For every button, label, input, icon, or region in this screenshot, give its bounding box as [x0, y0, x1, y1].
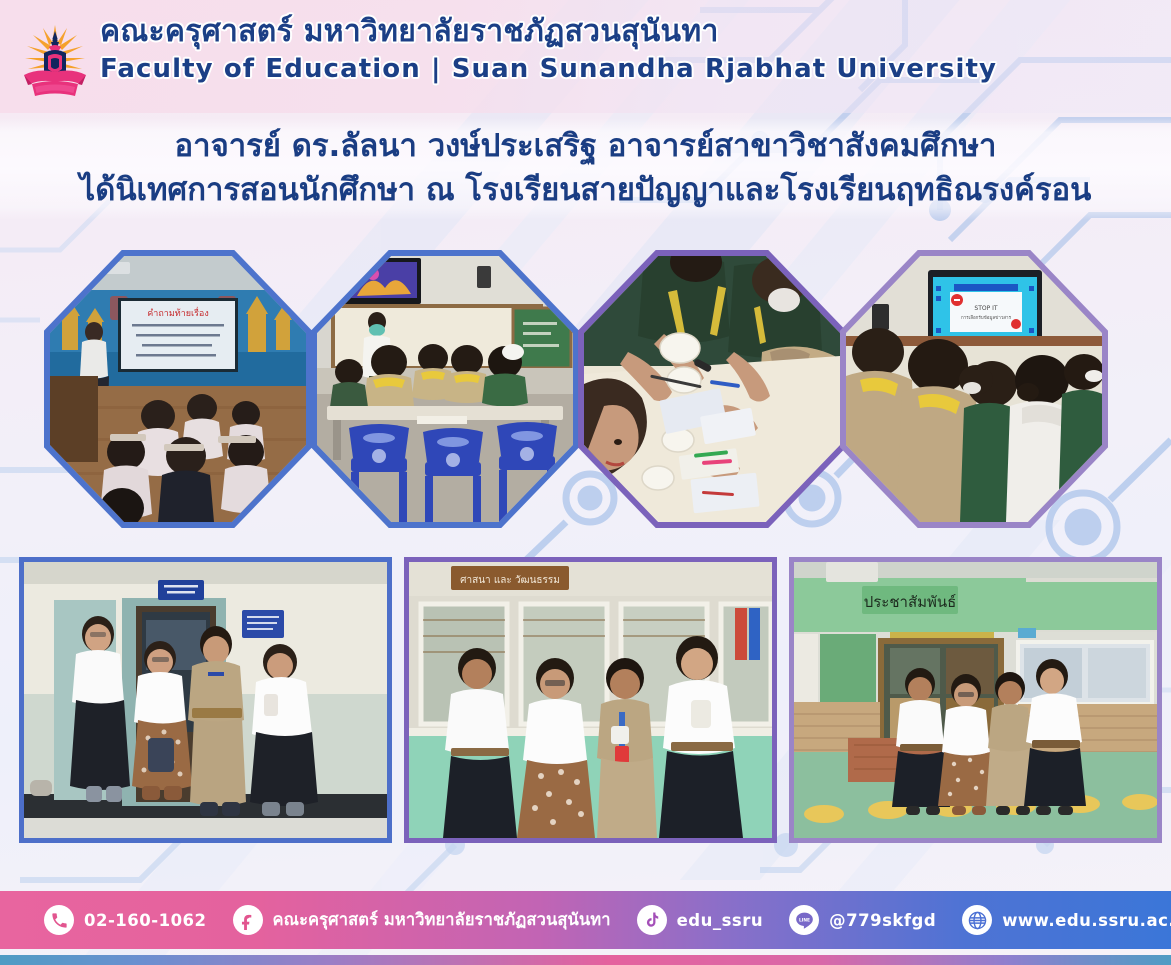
contact-website[interactable]: www.edu.ssru.ac.th [962, 905, 1171, 935]
page-title: อาจารย์ ดร.ลัลนา วงษ์ประเสริฐ อาจารย์สาข… [0, 118, 1171, 220]
svg-text:ประชาสัมพันธ์: ประชาสัมพันธ์ [864, 593, 957, 611]
photo-students-watching-screen: STOP IT การเลือกรับข้อมูลข่าวสาร [840, 250, 1108, 528]
photo-image: คำถามท้ายเรื่อง [50, 256, 306, 522]
octagon-photo-clip: คำถามท้ายเรื่อง [50, 256, 306, 522]
svg-text:STOP IT: STOP IT [974, 305, 997, 312]
octagon-photo-clip [317, 256, 573, 522]
contact-footer: 02-160-1062 คณะครุศาสตร์ มหาวิทยาลัยราชภ… [0, 891, 1171, 949]
photo-group-at-windows: ศาสนา และ วัฒนธรรม [404, 557, 777, 843]
svg-text:LINE: LINE [799, 917, 810, 923]
octagon-photo-clip [584, 256, 840, 522]
phone-number: 02-160-1062 [84, 911, 207, 930]
photo-group-at-information-office: ประชาสัมพันธ์ [789, 557, 1162, 843]
facebook-page-name: คณะครุศาสตร์ มหาวิทยาลัยราชภัฏสวนสุนันทา [273, 907, 611, 933]
footer-accent-strip [0, 955, 1171, 965]
photo-clip [24, 562, 387, 838]
website-url: www.edu.ssru.ac.th [1002, 911, 1171, 930]
photo-group-activity-desk [578, 250, 846, 528]
page-header: คณะครุศาสตร์ มหาวิทยาลัยราชภัฏสวนสุนันทา… [0, 0, 1171, 113]
photo-classroom-presentation: คำถามท้ายเรื่อง [44, 250, 312, 528]
line-id: @779skfgd [829, 911, 936, 930]
facebook-icon [233, 905, 263, 935]
header-text-block: คณะครุศาสตร์ มหาวิทยาลัยราชภัฏสวนสุนันทา… [100, 14, 997, 85]
octagon-photo-row: คำถามท้ายเรื่อง [0, 250, 1171, 535]
rectangular-photo-row: ศาสนา และ วัฒนธรรม [0, 557, 1171, 845]
svg-text:ศาสนา และ วัฒนธรรม: ศาสนา และ วัฒนธรรม [460, 575, 560, 586]
photo-clip: ประชาสัมพันธ์ [794, 562, 1157, 838]
line-icon: LINE [789, 905, 819, 935]
photo-image: ศาสนา และ วัฒนธรรม [409, 562, 772, 838]
photo-group-at-office-door [19, 557, 392, 843]
svg-text:การเลือกรับข้อมูลข่าวสาร: การเลือกรับข้อมูลข่าวสาร [961, 314, 1012, 321]
photo-classroom-tv-lesson [311, 250, 579, 528]
title-line-2: ได้นิเทศการสอนนักศึกษา ณ โรงเรียนสายปัญญ… [14, 168, 1157, 212]
tiktok-handle: edu_ssru [677, 911, 764, 930]
footer-contacts: 02-160-1062 คณะครุศาสตร์ มหาวิทยาลัยราชภ… [0, 905, 1171, 935]
contact-facebook[interactable]: คณะครุศาสตร์ มหาวิทยาลัยราชภัฏสวนสุนันทา [233, 905, 611, 935]
ssru-crest-logo-icon [18, 13, 92, 101]
photo-image: ประชาสัมพันธ์ [794, 562, 1157, 838]
photo-image [584, 256, 840, 522]
title-line-1: อาจารย์ ดร.ลัลนา วงษ์ประเสริฐ อาจารย์สาข… [14, 124, 1157, 168]
org-name-en: Faculty of Education | Suan Sunandha Rja… [100, 53, 997, 86]
contact-tiktok[interactable]: edu_ssru [637, 905, 764, 935]
photo-image [24, 562, 387, 838]
contact-line[interactable]: LINE @779skfgd [789, 905, 936, 935]
org-name-th: คณะครุศาสตร์ มหาวิทยาลัยราชภัฏสวนสุนันทา [100, 14, 997, 51]
photo-clip: ศาสนา และ วัฒนธรรม [409, 562, 772, 838]
photo-image: STOP IT การเลือกรับข้อมูลข่าวสาร [846, 256, 1102, 522]
globe-icon [962, 905, 992, 935]
tiktok-icon [637, 905, 667, 935]
octagon-photo-clip: STOP IT การเลือกรับข้อมูลข่าวสาร [846, 256, 1102, 522]
poster-canvas: คณะครุศาสตร์ มหาวิทยาลัยราชภัฏสวนสุนันทา… [0, 0, 1171, 965]
phone-icon [44, 905, 74, 935]
contact-phone[interactable]: 02-160-1062 [44, 905, 207, 935]
photo-image [317, 256, 573, 522]
